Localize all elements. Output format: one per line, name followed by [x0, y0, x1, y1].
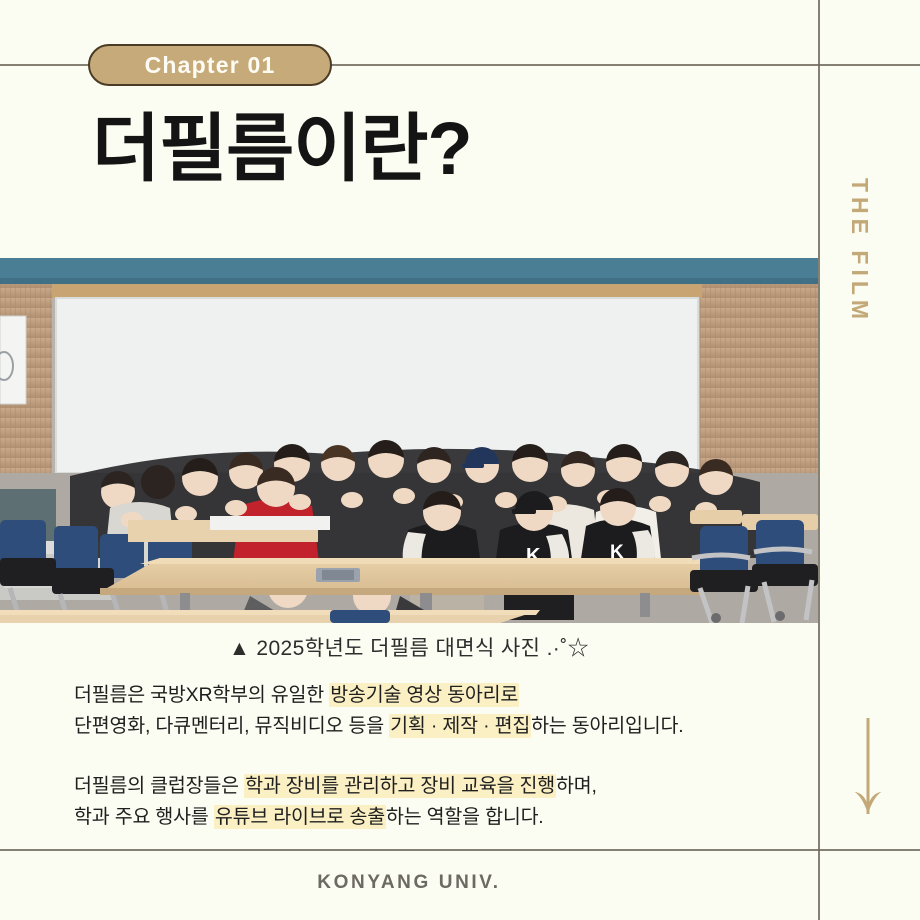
bottom-divider-rule: [0, 849, 920, 851]
chapter-badge: Chapter 01: [88, 44, 332, 86]
page-title: 더필름이란?: [92, 108, 472, 189]
slide-card: Chapter 01 더필름이란? THE FILM: [0, 0, 920, 920]
chapter-badge-label: Chapter 01: [145, 52, 276, 79]
side-brand-label: THE FILM: [846, 178, 873, 324]
paragraph-1-line-2: 단편영화, 다큐멘터리, 뮤직비디오 등을 기획 · 제작 · 편집하는 동아리…: [74, 711, 804, 742]
down-arrow-icon: [845, 718, 891, 824]
group-photo: K K: [0, 258, 818, 623]
paragraph-2-line-1: 더필름의 클럽장들은 학과 장비를 관리하고 장비 교육을 진행하며,: [74, 771, 804, 802]
paragraph-2-line-2: 학과 주요 행사를 유튜브 라이브로 송출하는 역할을 합니다.: [74, 802, 804, 833]
paragraph-1-line-1: 더필름은 국방XR학부의 유일한 방송기술 영상 동아리로: [74, 680, 804, 711]
paragraph-1: 더필름은 국방XR학부의 유일한 방송기술 영상 동아리로 단편영화, 다큐멘터…: [74, 680, 804, 742]
body-copy: 더필름은 국방XR학부의 유일한 방송기술 영상 동아리로 단편영화, 다큐멘터…: [74, 680, 804, 833]
right-vertical-rule: [818, 0, 820, 920]
photo-caption: ▲ 2025학년도 더필름 대면식 사진 .·˚☆: [0, 632, 818, 662]
footer-brand: KONYANG UNIV.: [0, 872, 818, 894]
paragraph-2: 더필름의 클럽장들은 학과 장비를 관리하고 장비 교육을 진행하며, 학과 주…: [74, 771, 804, 833]
